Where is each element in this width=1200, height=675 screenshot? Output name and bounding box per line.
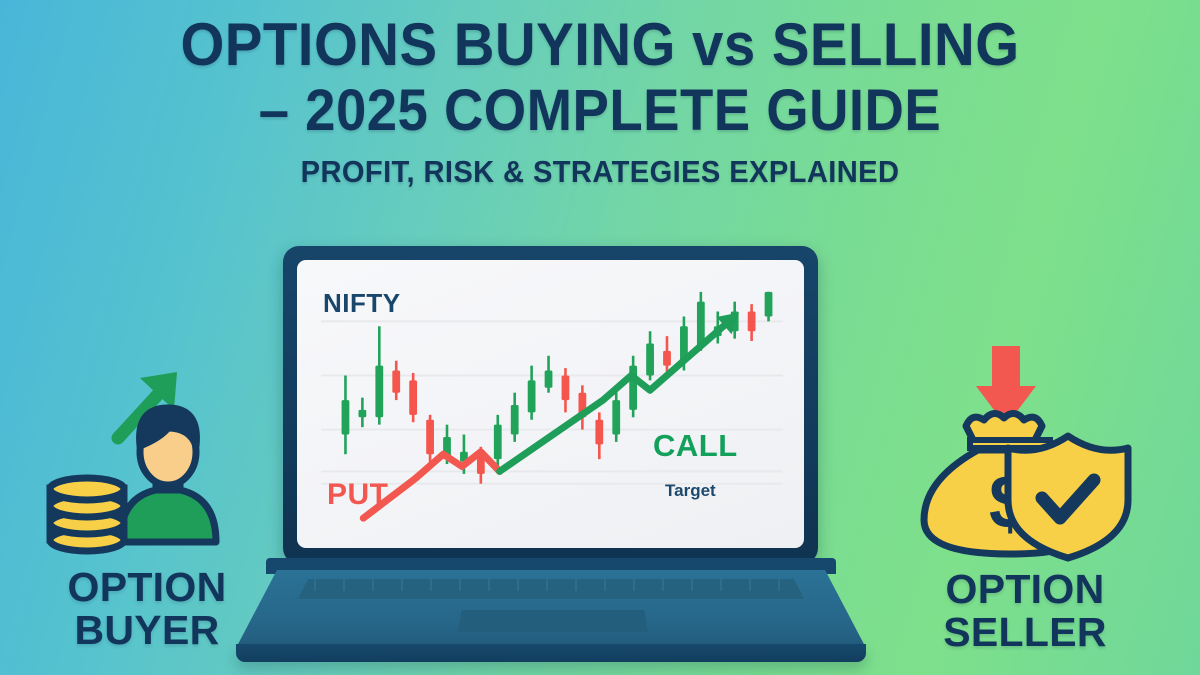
coin-stack-icon [50, 478, 124, 551]
shield-check-icon [1008, 436, 1128, 558]
seller-label-line2: SELLER [900, 611, 1150, 654]
chart-label-call: CALL [653, 428, 738, 464]
option-seller-panel: $ OPTION SELLER [900, 332, 1150, 653]
seller-label: OPTION SELLER [900, 568, 1150, 653]
option-buyer-panel: OPTION BUYER [22, 330, 272, 651]
laptop-screen: NIFTY PUT CALL Target [297, 260, 804, 548]
seller-illustration: $ [900, 332, 1150, 562]
seller-icon-group: $ [900, 332, 1150, 562]
page-title-line2: – 2025 COMPLETE GUIDE [36, 81, 1164, 140]
header-block: OPTIONS BUYING vs SELLING – 2025 COMPLET… [0, 14, 1200, 188]
chart-label-put: PUT [327, 478, 389, 512]
buyer-label: OPTION BUYER [22, 566, 272, 651]
chart-label-target: Target [665, 481, 716, 501]
laptop-trackpad [458, 610, 648, 632]
page-title-line1: OPTIONS BUYING vs SELLING [36, 14, 1164, 75]
chart-title-nifty: NIFTY [323, 288, 401, 319]
buyer-label-line2: BUYER [22, 609, 272, 652]
laptop-illustration: NIFTY PUT CALL Target [236, 246, 866, 666]
laptop-lid: NIFTY PUT CALL Target [283, 246, 818, 564]
buyer-label-line1: OPTION [22, 566, 272, 609]
page-subtitle: PROFIT, RISK & STRATEGIES EXPLAINED [36, 156, 1164, 188]
seller-label-line1: OPTION [900, 568, 1150, 611]
buyer-icon-group [22, 330, 272, 560]
laptop-foot [236, 644, 866, 662]
poster-canvas: OPTIONS BUYING vs SELLING – 2025 COMPLET… [0, 0, 1200, 675]
buyer-illustration [22, 330, 272, 560]
